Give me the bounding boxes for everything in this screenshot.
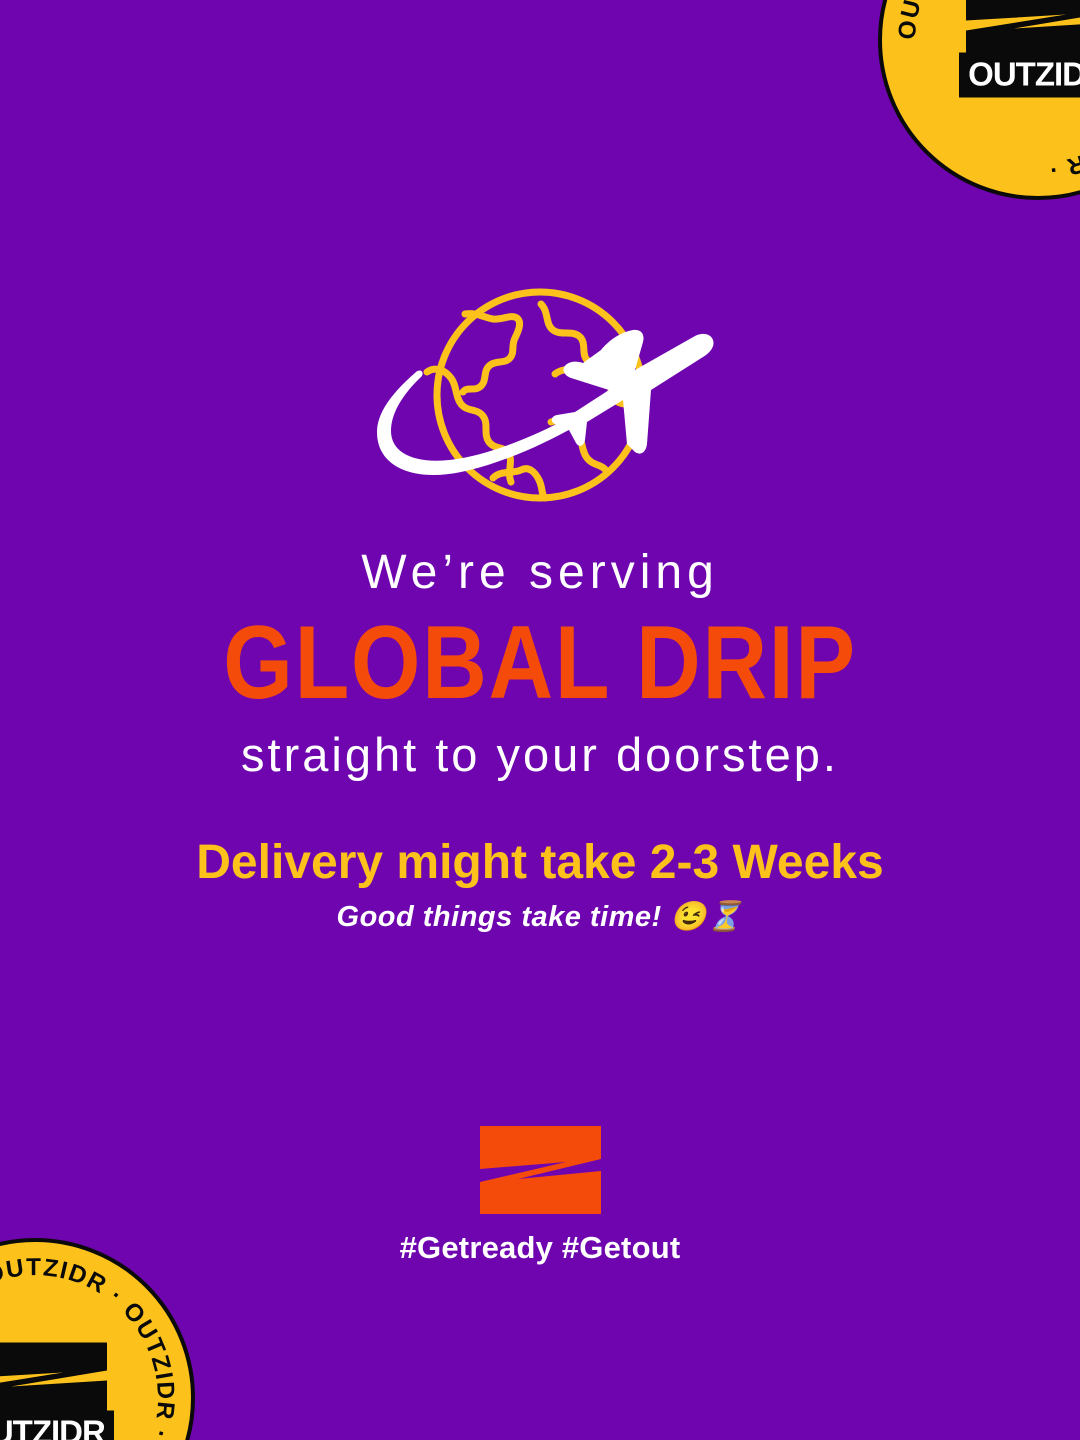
- delivery-subtext: Good things take time! 😉⏳: [0, 902, 1080, 934]
- z-logo-icon: [0, 1341, 111, 1417]
- headline-main: GLOBAL DRIP: [76, 610, 1005, 716]
- footer-brand-block: #Getready #Getout: [0, 1124, 1080, 1266]
- headline-copy-block: We’re serving GLOBAL DRIP straight to yo…: [0, 548, 1080, 934]
- airplane-icon: [552, 330, 714, 454]
- headline-kicker: We’re serving: [0, 548, 1080, 598]
- promo-poster: OUTZIDR · OUTZIDR · OUTZIDR · OUTZIDR · …: [0, 0, 1080, 1440]
- z-logo-icon: [962, 0, 1080, 59]
- brand-badge-bottom-left: OUTZIDR · OUTZIDR · OUTZIDR · OUTZIDR · …: [0, 1238, 195, 1440]
- badge-wordmark: OUTZIDR: [0, 1411, 114, 1440]
- globe-airplane-illustration: [365, 282, 715, 514]
- badge-core: OUTZIDR: [0, 1341, 130, 1440]
- badge-core: OUTZIDR: [943, 0, 1080, 98]
- z-logo-icon: [478, 1124, 603, 1216]
- headline-tail: straight to your doorstep.: [0, 730, 1080, 779]
- footer-hashtags: #Getready #Getout: [0, 1230, 1080, 1266]
- brand-badge-top-right: OUTZIDR · OUTZIDR · OUTZIDR · OUTZIDR · …: [878, 0, 1080, 200]
- badge-wordmark: OUTZIDR: [959, 53, 1080, 98]
- delivery-estimate: Delivery might take 2-3 Weeks: [0, 838, 1080, 888]
